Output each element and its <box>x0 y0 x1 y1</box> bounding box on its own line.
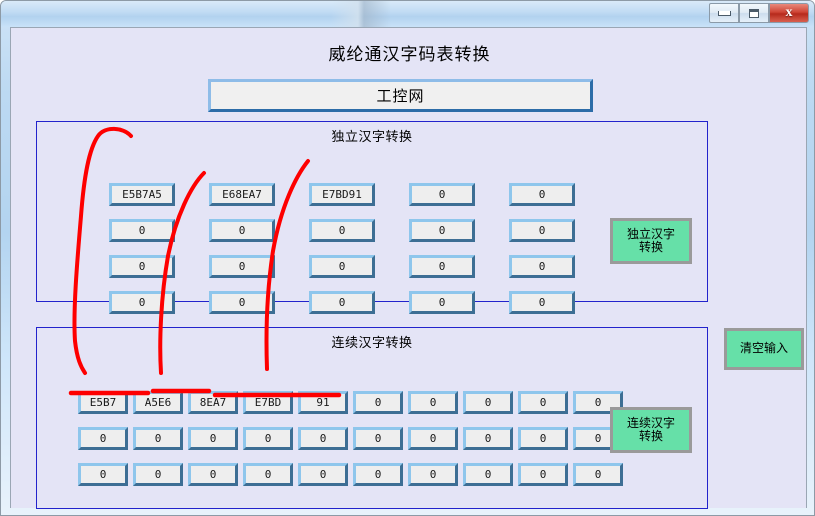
continuous-field-r1-c8[interactable]: 0 <box>463 391 513 414</box>
continuous-field-r3-c5[interactable]: 0 <box>298 463 348 486</box>
independent-panel-title: 独立汉字转换 <box>37 126 707 145</box>
continuous-field-r3-c9[interactable]: 0 <box>518 463 568 486</box>
continuous-field-r3-c10[interactable]: 0 <box>573 463 623 486</box>
clear-input-label: 清空输入 <box>740 342 788 355</box>
continuous-field-r1-c9[interactable]: 0 <box>518 391 568 414</box>
continuous-panel-title: 连续汉字转换 <box>37 332 707 351</box>
continuous-field-r2-c5[interactable]: 0 <box>298 427 348 450</box>
independent-field-r3-c3[interactable]: 0 <box>309 255 375 278</box>
independent-field-r4-c4[interactable]: 0 <box>409 291 475 314</box>
continuous-field-r3-c4[interactable]: 0 <box>243 463 293 486</box>
clear-input-button[interactable]: 清空输入 <box>724 328 804 370</box>
application-window: x 威纶通汉字码表转换 工控网 独立汉字转换 连续汉字转换 E5B7A5E68E… <box>0 0 815 516</box>
independent-field-r2-c2[interactable]: 0 <box>209 219 275 242</box>
continuous-field-r2-c6[interactable]: 0 <box>353 427 403 450</box>
maximize-icon <box>749 9 759 18</box>
independent-field-r3-c4[interactable]: 0 <box>409 255 475 278</box>
continuous-field-r2-c9[interactable]: 0 <box>518 427 568 450</box>
independent-field-r3-c5[interactable]: 0 <box>509 255 575 278</box>
independent-field-r4-c1[interactable]: 0 <box>109 291 175 314</box>
continuous-field-r3-c1[interactable]: 0 <box>78 463 128 486</box>
continuous-field-r2-c4[interactable]: 0 <box>243 427 293 450</box>
continuous-field-r2-c7[interactable]: 0 <box>408 427 458 450</box>
title-bar: x <box>1 1 815 27</box>
independent-field-r2-c5[interactable]: 0 <box>509 219 575 242</box>
independent-field-r1-c1[interactable]: E5B7A5 <box>109 183 175 206</box>
close-button[interactable]: x <box>769 3 809 23</box>
continuous-field-r1-c6[interactable]: 0 <box>353 391 403 414</box>
independent-field-r1-c4[interactable]: 0 <box>409 183 475 206</box>
independent-field-r2-c3[interactable]: 0 <box>309 219 375 242</box>
independent-field-r4-c5[interactable]: 0 <box>509 291 575 314</box>
independent-field-r3-c2[interactable]: 0 <box>209 255 275 278</box>
continuous-field-r1-c3[interactable]: 8EA7 <box>188 391 238 414</box>
brand-button[interactable]: 工控网 <box>208 79 593 112</box>
independent-field-r1-c3[interactable]: E7BD91 <box>309 183 375 206</box>
continuous-field-r2-c2[interactable]: 0 <box>133 427 183 450</box>
continuous-field-r2-c3[interactable]: 0 <box>188 427 238 450</box>
continuous-field-r1-c1[interactable]: E5B7 <box>78 391 128 414</box>
independent-convert-button[interactable]: 独立汉字 转换 <box>610 218 692 264</box>
continuous-field-r1-c2[interactable]: A5E6 <box>133 391 183 414</box>
title-bar-glass-streak <box>331 1 391 27</box>
continuous-field-r3-c8[interactable]: 0 <box>463 463 513 486</box>
minimize-button[interactable] <box>709 3 739 23</box>
independent-field-r2-c1[interactable]: 0 <box>109 219 175 242</box>
continuous-field-r3-c7[interactable]: 0 <box>408 463 458 486</box>
maximize-button[interactable] <box>739 3 769 23</box>
client-area: 威纶通汉字码表转换 工控网 独立汉字转换 连续汉字转换 E5B7A5E68EA7… <box>10 27 807 508</box>
independent-field-r3-c1[interactable]: 0 <box>109 255 175 278</box>
independent-field-r2-c4[interactable]: 0 <box>409 219 475 242</box>
independent-field-r4-c3[interactable]: 0 <box>309 291 375 314</box>
continuous-field-r2-c1[interactable]: 0 <box>78 427 128 450</box>
continuous-field-r1-c5[interactable]: 91 <box>298 391 348 414</box>
continuous-convert-button[interactable]: 连续汉字 转换 <box>610 407 692 453</box>
independent-field-r1-c2[interactable]: E68EA7 <box>209 183 275 206</box>
close-icon: x <box>786 6 793 20</box>
page-title: 威纶通汉字码表转换 <box>11 40 808 65</box>
continuous-field-r1-c4[interactable]: E7BD <box>243 391 293 414</box>
continuous-field-r3-c3[interactable]: 0 <box>188 463 238 486</box>
continuous-field-r3-c2[interactable]: 0 <box>133 463 183 486</box>
independent-convert-label: 独立汉字 转换 <box>627 228 675 255</box>
minimize-icon <box>718 11 731 16</box>
continuous-field-r1-c7[interactable]: 0 <box>408 391 458 414</box>
independent-field-r4-c2[interactable]: 0 <box>209 291 275 314</box>
continuous-convert-label: 连续汉字 转换 <box>627 417 675 444</box>
continuous-field-r3-c6[interactable]: 0 <box>353 463 403 486</box>
continuous-field-r2-c8[interactable]: 0 <box>463 427 513 450</box>
independent-field-r1-c5[interactable]: 0 <box>509 183 575 206</box>
